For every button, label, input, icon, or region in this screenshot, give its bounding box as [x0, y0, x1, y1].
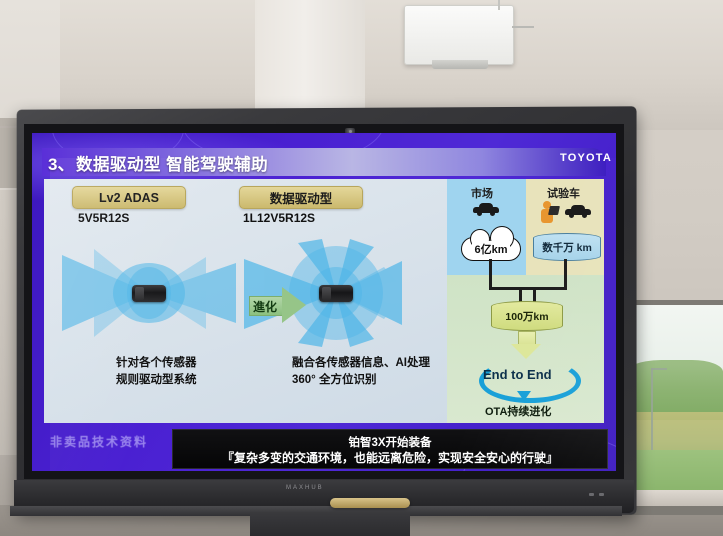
toyota-logo: TOYOTA: [560, 152, 612, 164]
banner-line1: 铂智3X开始装备: [173, 434, 607, 450]
display-port-1: [589, 493, 594, 496]
emergency-light-cable: [512, 26, 534, 28]
training-data-cylinder: 100万km: [491, 301, 563, 331]
test-data-value: 数千万 km: [542, 240, 592, 255]
merge-connector-h: [489, 287, 567, 290]
wall-column: [255, 0, 365, 120]
market-data-cloud: 6亿km: [461, 237, 521, 261]
display-port-2: [599, 493, 604, 496]
presentation-slide[interactable]: 3、 数据驱动型 智能驾驶辅助 TOYOTA Lv2 ADAS 5V5R12S …: [32, 133, 616, 471]
evolution-arrow-label: 進化: [253, 298, 277, 315]
training-data-value: 100万km: [505, 309, 548, 324]
display-stand: [250, 512, 410, 536]
stylus-pen[interactable]: [330, 498, 410, 508]
market-data-value: 6亿km: [472, 241, 509, 257]
datadriven-caption: 融合各传感器信息、AI处理 360° 全方位识别: [292, 355, 430, 388]
lv2-adas-config: 5V5R12S: [78, 211, 129, 225]
slide-bottom-banner: 铂智3X开始装备 『复杂多变的交通环境，也能远离危险，实现安全安心的行驶』: [172, 429, 608, 469]
emergency-light-bracket: [432, 60, 488, 69]
sensor-diagram-lv2: [54, 237, 244, 349]
end-to-end-loop-arrow-icon: [517, 391, 531, 401]
street-lamp-post: [651, 368, 653, 450]
test-car-icon: [565, 205, 591, 216]
engineer-laptop-icon: [540, 201, 556, 225]
lv2-caption: 针对各个传感器 规则驱动型系统: [116, 355, 197, 388]
ota-label: OTA持续进化: [485, 403, 551, 419]
interactive-display[interactable]: 3、 数据驱动型 智能驾驶辅助 TOYOTA Lv2 ADAS 5V5R12S …: [14, 108, 634, 513]
datadriven-caption-line1: 融合各传感器信息、AI处理: [292, 355, 430, 372]
street-lamp-arm: [651, 368, 667, 370]
test-vehicle-label: 试验车: [547, 185, 580, 201]
market-car-icon: [473, 203, 499, 214]
test-data-cylinder: 数千万 km: [533, 233, 601, 261]
lv2-caption-line1: 针对各个传感器: [116, 355, 197, 372]
slide-number: 3、: [48, 150, 74, 175]
market-label: 市场: [471, 185, 493, 201]
display-brand-label: MAXHUB: [286, 485, 324, 491]
market-connector-v: [489, 259, 492, 289]
evolution-arrow-head-icon: [282, 287, 306, 323]
data-driven-pill: 数据驱动型: [239, 186, 363, 209]
datadriven-caption-line2: 360° 全方位识别: [292, 372, 430, 389]
lv2-adas-pill: Lv2 ADAS: [72, 186, 186, 209]
vehicle-icon-left: [132, 285, 166, 302]
data-flow-panel: 市场 试验车 6亿km 数千万 km: [447, 179, 604, 423]
slide-body: Lv2 ADAS 5V5R12S 数据驱动型 1L12V5R12S: [44, 179, 604, 423]
test-connector-v: [564, 259, 567, 289]
lv2-caption-line2: 规则驱动型系统: [116, 372, 197, 389]
banner-line2: 『复杂多变的交通环境，也能远离危险，实现安全安心的行驶』: [173, 449, 607, 466]
slide-title: 数据驱动型 智能驾驶辅助: [76, 151, 268, 175]
vehicle-icon-right: [319, 285, 353, 302]
slide-watermark: 非卖品技术资料: [50, 433, 148, 450]
ceiling-wire: [498, 0, 500, 10]
end-to-end-label: End to End: [483, 367, 552, 382]
flow-arrow-head-icon: [511, 344, 541, 359]
data-driven-config: 1L12V5R12S: [243, 211, 315, 225]
evolution-arrow: 進化: [249, 287, 307, 323]
emergency-light-fixture: NING 消防应急照明灯具 Self-Contained Emergency L…: [404, 5, 514, 65]
